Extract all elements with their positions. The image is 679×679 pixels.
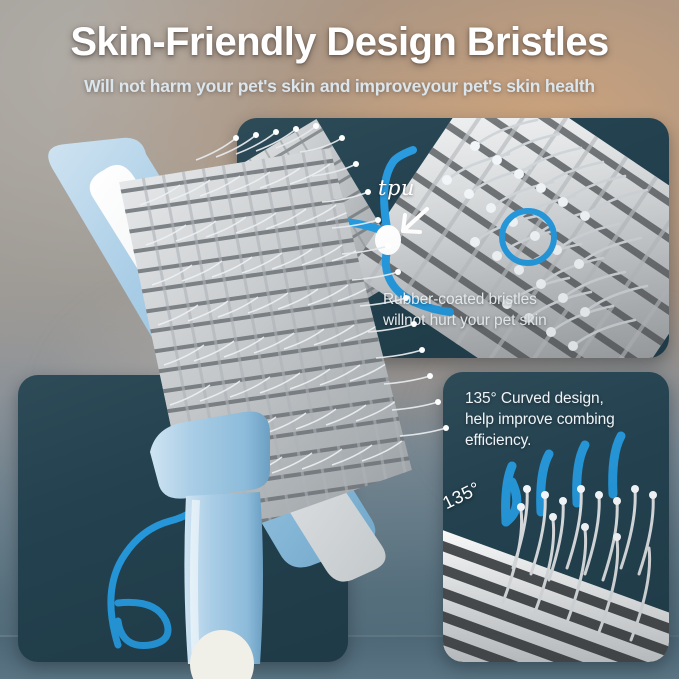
tpu-caption-line2: willnot hurt your pet skin [383, 311, 633, 332]
curved-design-panel: 135° Curved design, help improve combing… [443, 372, 669, 662]
curled-arrow-illustration [18, 375, 348, 662]
tpu-caption: Rubber-coated bristles willnot hurt your… [383, 290, 633, 332]
arrow-pointer-icon [403, 209, 427, 232]
page-subtitle: Will not harm your pet's skin and improv… [84, 76, 595, 97]
angle-caption-line2: help improve combing [465, 409, 651, 430]
page-title: Skin-Friendly Design Bristles [70, 20, 608, 65]
angle-caption-line3: efficiency. [465, 430, 651, 451]
curled-up-arrow-icon [111, 427, 208, 646]
angle-caption-line1: 135° Curved design, [465, 388, 651, 409]
angle-caption: 135° Curved design, help improve combing… [465, 388, 651, 451]
product-feature-image: Rubber-coated bristles willnot hurt your… [0, 0, 679, 679]
rubber-coated-bristle-panel: Rubber-coated bristles willnot hurt your… [237, 118, 669, 358]
tpu-annotation-label: tpu [378, 176, 415, 200]
tpu-caption-line1: Rubber-coated bristles [383, 290, 633, 311]
header: Skin-Friendly Design Bristles Will not h… [0, 0, 679, 112]
handle-panel [18, 375, 348, 662]
circle-highlight-icon [502, 211, 554, 263]
